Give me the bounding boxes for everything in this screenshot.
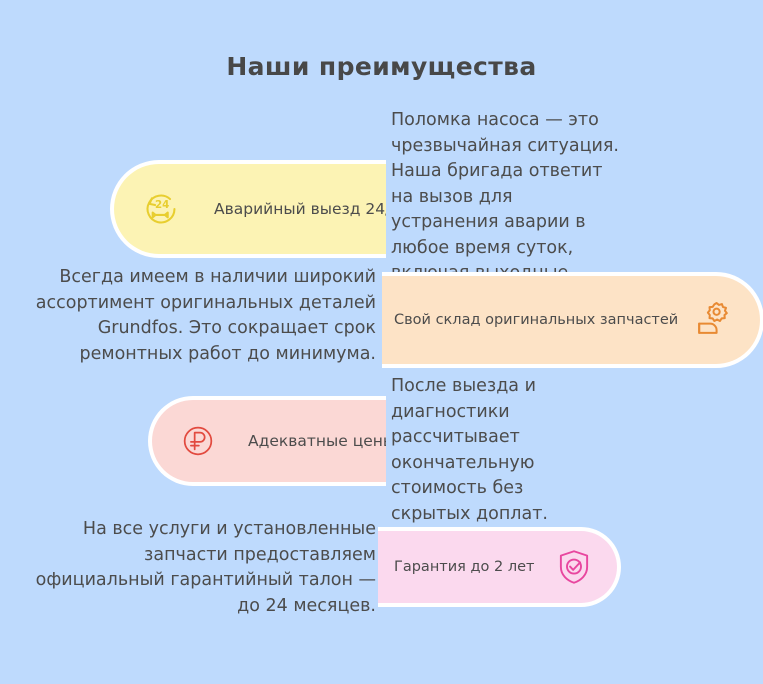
benefit-card-warranty[interactable]: Гарантия до 2 лет [378,527,621,607]
benefit-card-price[interactable]: Адекватные цены [148,396,386,486]
benefits-page: Наши преимущества 24 Аварийный выезд 24/… [0,0,763,684]
benefit-description-emergency: Поломка насоса — это чрезвычайная ситуац… [391,108,619,287]
benefit-card-price-label: Адекватные цены [248,432,386,450]
benefit-card-warranty-label: Гарантия до 2 лет [394,559,534,575]
benefit-card-warehouse-label: Свой склад оригинальных запчастей [394,312,678,328]
clock-24-wrench-icon: 24 [142,190,180,228]
svg-text:24: 24 [155,199,169,211]
benefit-card-warehouse[interactable]: Свой склад оригинальных запчастей [382,272,763,368]
benefit-card-emergency-label: Аварийный выезд 24/7 [214,200,386,218]
benefit-card-emergency[interactable]: 24 Аварийный выезд 24/7 [110,160,386,258]
benefit-description-price: После выезда и диагностики рассчитывает … [391,374,597,527]
benefit-description-warranty: На все услуги и установленные запчасти п… [34,517,376,619]
benefit-description-parts: Всегда имеем в наличии широкий ассортиме… [34,265,376,367]
page-title: Наши преимущества [0,52,763,81]
shield-check-icon [553,546,595,588]
gear-shelf-icon [690,298,734,342]
ruble-circle-icon [178,421,218,461]
